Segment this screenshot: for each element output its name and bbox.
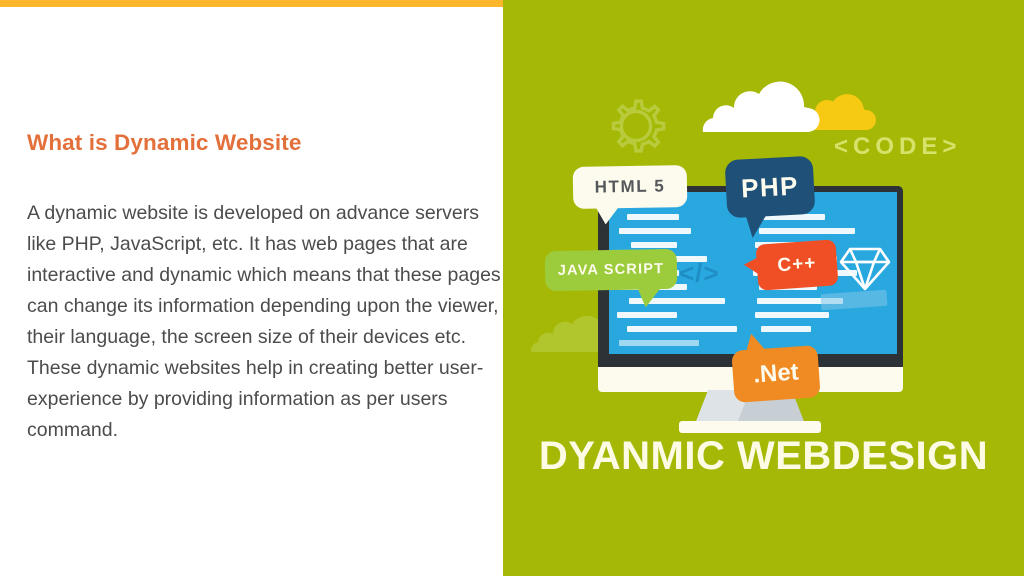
bubble-tail	[744, 333, 767, 354]
badge-html5: HTML 5	[573, 165, 688, 209]
slide-canvas: What is Dynamic Website A dynamic websit…	[0, 0, 1024, 576]
badge-javascript: JAVA SCRIPT	[545, 249, 678, 291]
bubble-tail	[637, 287, 661, 307]
badge-html5-label: HTML 5	[594, 176, 665, 197]
diamond-icon	[839, 244, 891, 292]
cloud-white-icon	[689, 72, 821, 134]
bubble-tail	[743, 257, 760, 277]
body-paragraph: A dynamic website is developed on advanc…	[27, 198, 505, 446]
bubble-tail	[595, 206, 619, 224]
illustration-caption: DYANMIC WEBDESIGN	[503, 434, 1024, 479]
badge-cpp-label: C++	[777, 253, 817, 278]
bubble-tail	[745, 213, 768, 238]
badge-dotnet: .Net	[731, 345, 820, 403]
badge-javascript-label: JAVA SCRIPT	[558, 261, 665, 279]
badge-cpp: C++	[755, 239, 838, 290]
code-tag-symbol: </>	[679, 258, 720, 289]
badge-php-label: PHP	[740, 170, 799, 204]
text-pane: What is Dynamic Website A dynamic websit…	[0, 7, 503, 576]
badge-php: PHP	[725, 156, 816, 219]
illustration-pane: <CODE>	[503, 0, 1024, 576]
badge-dotnet-label: .Net	[752, 358, 799, 389]
illustration-graphic: <CODE>	[503, 0, 1024, 576]
page-title: What is Dynamic Website	[27, 131, 477, 156]
top-accent-bar	[0, 0, 503, 7]
code-word-label: <CODE>	[834, 133, 961, 161]
monitor-stand-foot	[679, 421, 821, 433]
gear-icon	[593, 83, 679, 169]
